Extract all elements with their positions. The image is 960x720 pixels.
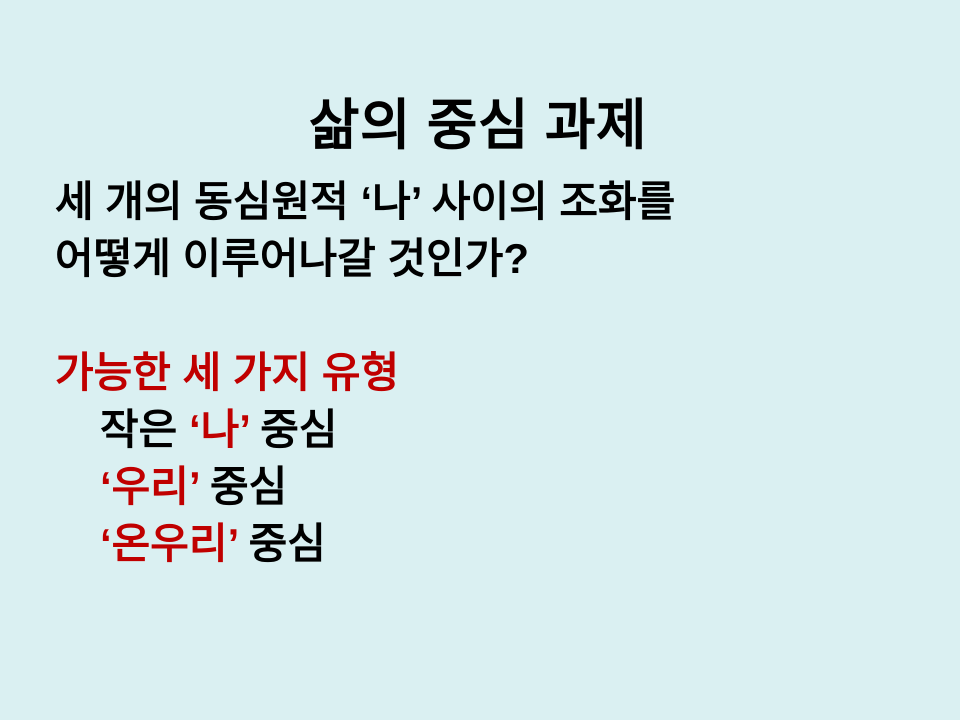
highlight-text: ‘온우리’: [100, 520, 238, 567]
highlight-text: ‘나’: [189, 406, 250, 453]
plain-text: 작은: [100, 406, 189, 453]
list-item: ‘온우리’ 중심: [55, 515, 915, 572]
page-title: 삶의 중심 과제: [0, 94, 960, 157]
plain-text: 중심: [199, 463, 287, 510]
slide-body: 세 개의 동심원적 ‘나’ 사이의 조화를 어떻게 이루어나갈 것인가? 가능한…: [55, 173, 915, 572]
list-item: 작은 ‘나’ 중심: [55, 401, 915, 458]
body-line-1: 세 개의 동심원적 ‘나’ 사이의 조화를: [55, 173, 915, 230]
plain-text: 중심: [238, 520, 326, 567]
body-line-2: 어떻게 이루어나갈 것인가?: [55, 230, 915, 287]
highlight-text: ‘우리’: [100, 463, 199, 510]
bullet-list: 작은 ‘나’ 중심 ‘우리’ 중심 ‘온우리’ 중심: [55, 401, 915, 572]
body-spacer: [55, 287, 915, 344]
plain-text: 중심: [250, 406, 338, 453]
list-item: ‘우리’ 중심: [55, 458, 915, 515]
section-heading: 가능한 세 가지 유형: [55, 344, 915, 401]
page-title-text: 삶의 중심 과제: [309, 94, 647, 157]
slide-canvas: 삶의 중심 과제 세 개의 동심원적 ‘나’ 사이의 조화를 어떻게 이루어나갈…: [0, 0, 960, 720]
